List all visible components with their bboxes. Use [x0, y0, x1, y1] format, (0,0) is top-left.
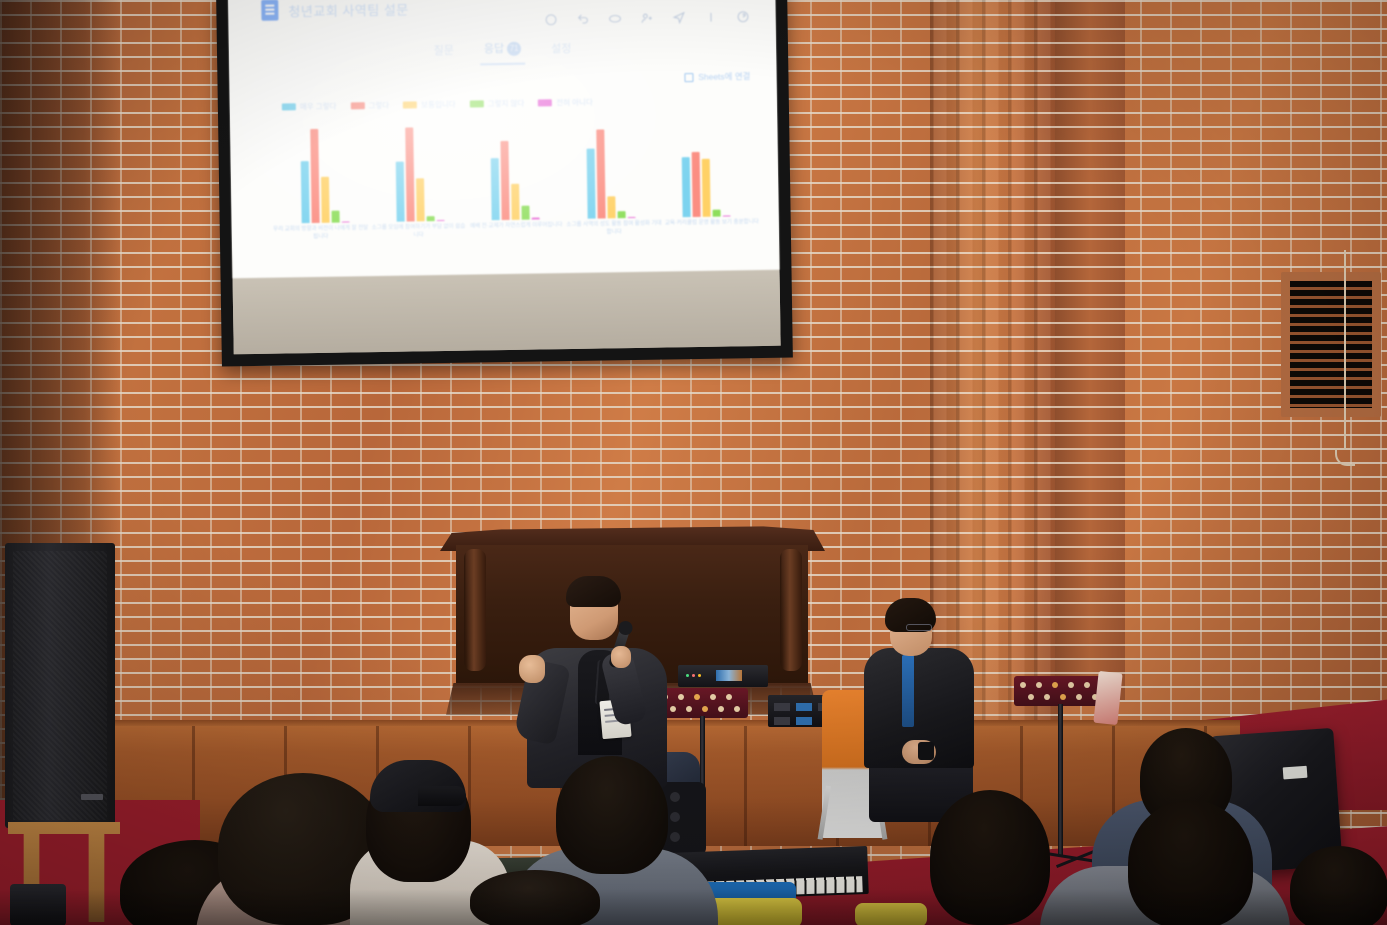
photo-vignette	[0, 0, 1387, 925]
foreground-shadow	[0, 889, 1387, 925]
photo-scene: 청년교회 사역팀 설문	[0, 0, 1387, 925]
